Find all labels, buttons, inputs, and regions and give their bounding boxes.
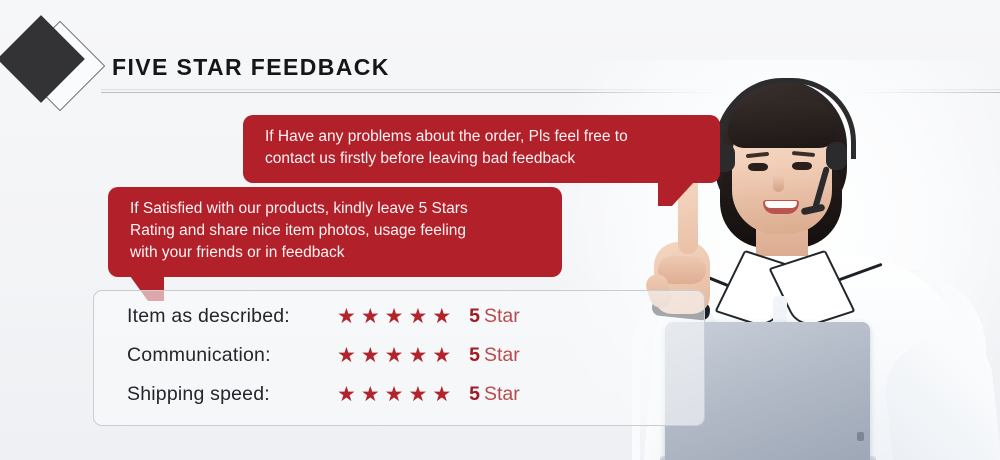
star-icon: ★ [408,345,427,366]
rating-label: Item as described: [127,305,333,328]
star-icon: ★ [361,384,380,405]
rating-score-unit: Star [484,383,520,405]
bubble-tail-icon [658,182,694,206]
speech-bubble-good-feedback: If Satisfied with our products, kindly l… [108,187,562,277]
smiling-mouth [763,200,799,214]
rating-score-unit: Star [484,344,520,366]
star-icon: ★ [432,345,451,366]
bubble-line: Rating and share nice item photos, usage… [130,220,544,242]
feedback-banner: FIVE STAR FEEDBACK [0,0,1000,460]
rating-row: Item as described: ★ ★ ★ ★ ★ 5Star [127,297,520,335]
teeth [765,201,797,208]
bubble-line: If Have any problems about the order, Pl… [265,126,702,148]
headset-earcup-right [826,142,847,170]
rating-row: Communication: ★ ★ ★ ★ ★ 5Star [127,336,520,374]
star-icon: ★ [337,384,356,405]
star-icon: ★ [361,345,380,366]
rating-row: Shipping speed: ★ ★ ★ ★ ★ 5Star [127,375,520,413]
bubble-line: with your friends or in feedback [130,242,544,264]
speech-bubble-bad-feedback: If Have any problems about the order, Pl… [243,115,720,183]
star-icon: ★ [361,306,380,327]
star-icon: ★ [408,306,427,327]
rating-score-number: 5 [469,344,480,366]
nose [773,175,784,192]
rating-score: 5Star [469,383,520,406]
eye-left [748,163,768,171]
rating-score-number: 5 [469,383,480,405]
rating-score-unit: Star [484,305,520,327]
star-icon: ★ [432,306,451,327]
star-icon: ★ [432,384,451,405]
star-rating-group: ★ ★ ★ ★ ★ [337,306,451,327]
star-rating-group: ★ ★ ★ ★ ★ [337,384,451,405]
laptop-port [857,432,864,441]
bubble-line: If Satisfied with our products, kindly l… [130,198,544,220]
rating-label: Communication: [127,344,333,367]
star-icon: ★ [385,306,404,327]
rating-label: Shipping speed: [127,383,333,406]
rating-score: 5Star [469,305,520,328]
bubble-line: contact us firstly before leaving bad fe… [265,148,702,170]
star-rating-group: ★ ★ ★ ★ ★ [337,345,451,366]
star-icon: ★ [385,345,404,366]
rating-score: 5Star [469,344,520,367]
eye-right [792,162,812,170]
page-title: FIVE STAR FEEDBACK [112,54,390,81]
ratings-panel: Item as described: ★ ★ ★ ★ ★ 5Star Commu… [93,290,705,426]
star-icon: ★ [408,384,427,405]
rating-score-number: 5 [469,305,480,327]
star-icon: ★ [385,384,404,405]
star-icon: ★ [337,345,356,366]
star-icon: ★ [337,306,356,327]
diamond-logo-icon [4,24,109,116]
